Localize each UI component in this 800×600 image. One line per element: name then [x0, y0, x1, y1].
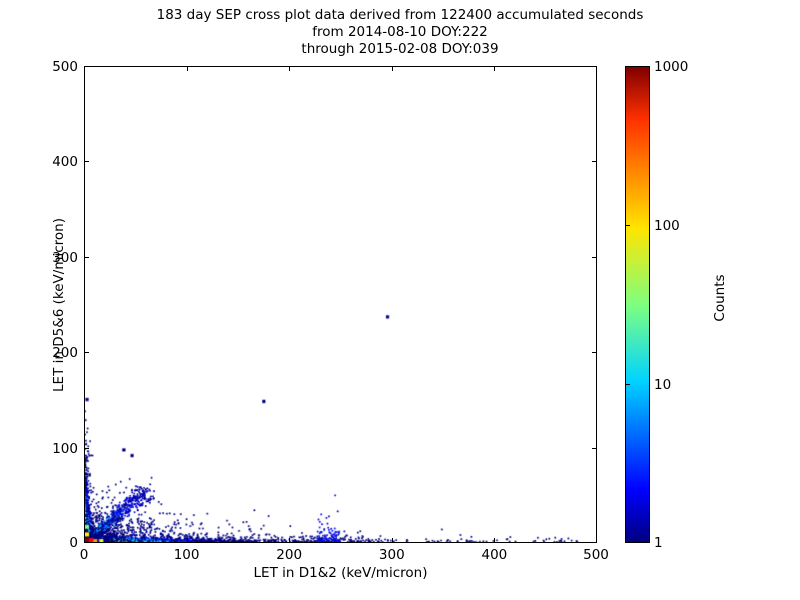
- y-tick-right-400: [592, 161, 597, 162]
- scatter-plot-area: [84, 66, 597, 543]
- y-ticklabel-0: 0: [18, 535, 78, 551]
- y-ticklabel-400: 400: [18, 154, 78, 170]
- colorbar: [625, 66, 650, 543]
- x-ticklabel-500: 500: [561, 547, 631, 563]
- colorbar-label-1000: 1000: [654, 59, 688, 75]
- colorbar-tick-10: [625, 384, 630, 385]
- y-tick-0: [84, 542, 89, 543]
- x-tick-top-200: [289, 66, 290, 71]
- x-ticklabel-300: 300: [357, 547, 427, 563]
- x-tick-400: [494, 538, 495, 543]
- x-tick-top-300: [392, 66, 393, 71]
- x-tick-200: [289, 538, 290, 543]
- y-ticklabel-300: 300: [18, 250, 78, 266]
- colorbar-label-100: 100: [654, 218, 680, 234]
- x-axis-label: LET in D1&2 (keV/micron): [84, 565, 597, 581]
- x-tick-top-400: [494, 66, 495, 71]
- y-tick-right-500: [592, 66, 597, 67]
- x-ticklabel-200: 200: [254, 547, 324, 563]
- x-ticklabel-100: 100: [152, 547, 222, 563]
- colorbar-tick-100: [625, 225, 630, 226]
- colorbar-tick-1000: [625, 66, 630, 67]
- x-tick-300: [392, 538, 393, 543]
- y-tick-right-200: [592, 352, 597, 353]
- y-ticklabel-500: 500: [18, 59, 78, 75]
- scatter-data-layer: [85, 67, 596, 542]
- y-ticklabel-200: 200: [18, 345, 78, 361]
- x-tick-top-100: [187, 66, 188, 71]
- y-tick-500: [84, 66, 89, 67]
- plot-title-line-3: through 2015-02-08 DOY:039: [0, 41, 800, 58]
- x-tick-100: [187, 538, 188, 543]
- y-tick-200: [84, 352, 89, 353]
- plot-title-line-2: from 2014-08-10 DOY:222: [0, 24, 800, 41]
- y-tick-right-300: [592, 257, 597, 258]
- colorbar-title: Counts: [712, 218, 728, 378]
- colorbar-label-10: 10: [654, 377, 671, 393]
- colorbar-tick-1: [625, 542, 630, 543]
- colorbar-gradient: [626, 67, 649, 542]
- y-tick-100: [84, 448, 89, 449]
- plot-title-line-1: 183 day SEP cross plot data derived from…: [0, 7, 800, 24]
- y-tick-300: [84, 257, 89, 258]
- y-tick-right-100: [592, 448, 597, 449]
- y-axis-label: LET in D5&6 (keV/micron): [51, 140, 67, 470]
- colorbar-label-1: 1: [654, 535, 663, 551]
- y-tick-right-0: [592, 542, 597, 543]
- y-tick-400: [84, 161, 89, 162]
- x-ticklabel-400: 400: [459, 547, 529, 563]
- y-ticklabel-100: 100: [18, 441, 78, 457]
- plot-title: 183 day SEP cross plot data derived from…: [0, 7, 800, 58]
